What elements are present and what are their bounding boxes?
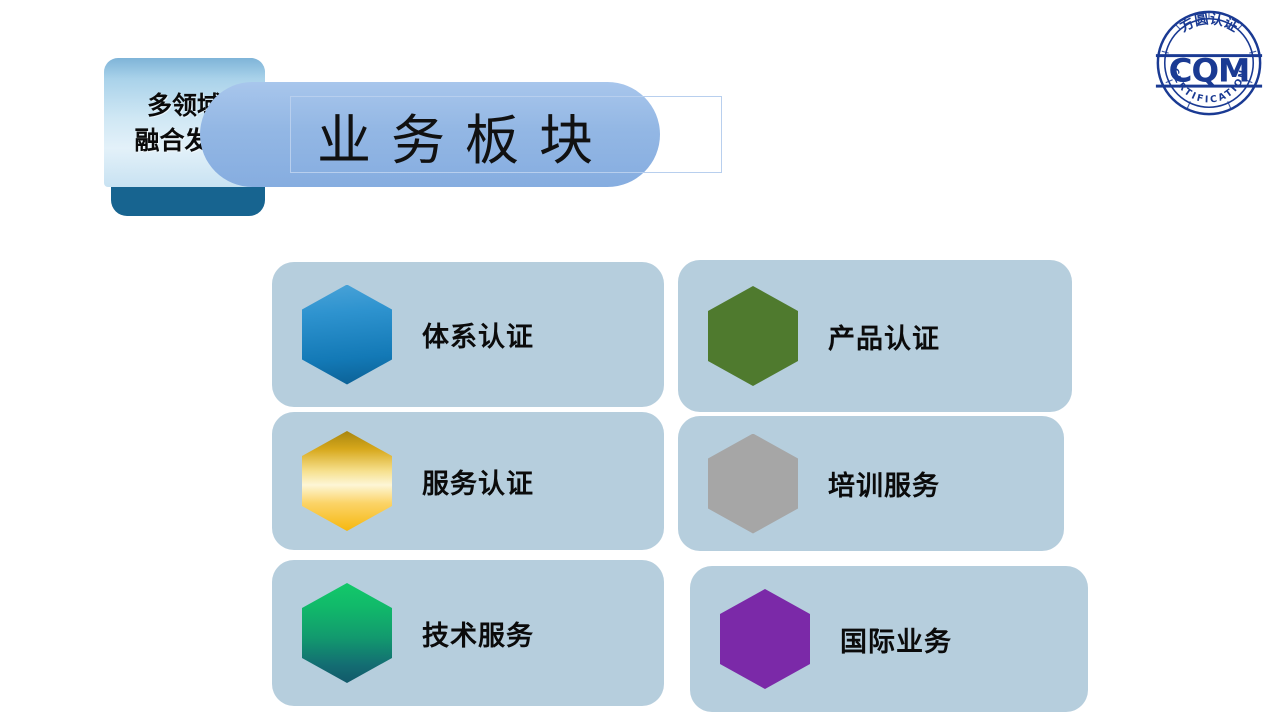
card-system-certification[interactable]: 体系认证	[272, 262, 664, 407]
card-label: 产品认证	[828, 317, 940, 356]
hexagon-icon-wrap	[302, 285, 392, 385]
hexagon-icon	[720, 589, 810, 689]
card-label: 体系认证	[422, 315, 534, 354]
hexagon-icon	[302, 285, 392, 385]
card-label: 培训服务	[828, 464, 940, 503]
cqm-logo: 方圆认证 CERTIFICATION CQM	[1150, 4, 1268, 122]
card-label: 服务认证	[422, 462, 534, 501]
card-training-service[interactable]: 培训服务	[678, 416, 1064, 551]
card-label: 技术服务	[422, 614, 534, 653]
hexagon-icon	[302, 583, 392, 683]
page-title: 业务板块	[290, 95, 620, 175]
hexagon-icon-wrap	[302, 431, 392, 531]
hexagon-icon	[708, 286, 798, 386]
hexagon-icon-wrap	[708, 286, 798, 386]
hexagon-icon	[708, 434, 798, 534]
card-service-certification[interactable]: 服务认证	[272, 412, 664, 550]
hexagon-icon-wrap	[708, 434, 798, 534]
hexagon-icon-wrap	[720, 589, 810, 689]
hexagon-icon	[302, 431, 392, 531]
card-technical-service[interactable]: 技术服务	[272, 560, 664, 706]
svg-text:CQM: CQM	[1169, 52, 1250, 90]
card-international-business[interactable]: 国际业务	[690, 566, 1088, 712]
card-product-certification[interactable]: 产品认证	[678, 260, 1072, 412]
hexagon-icon-wrap	[302, 583, 392, 683]
card-label: 国际业务	[840, 620, 952, 659]
header-area: 多领域 融合发展 业务板块 方圆认证 CERTIFICATION	[0, 0, 1280, 240]
business-segment-grid: 体系认证 产品认证 服务认证 培训服务 技术服务 国际业务	[0, 240, 1280, 720]
